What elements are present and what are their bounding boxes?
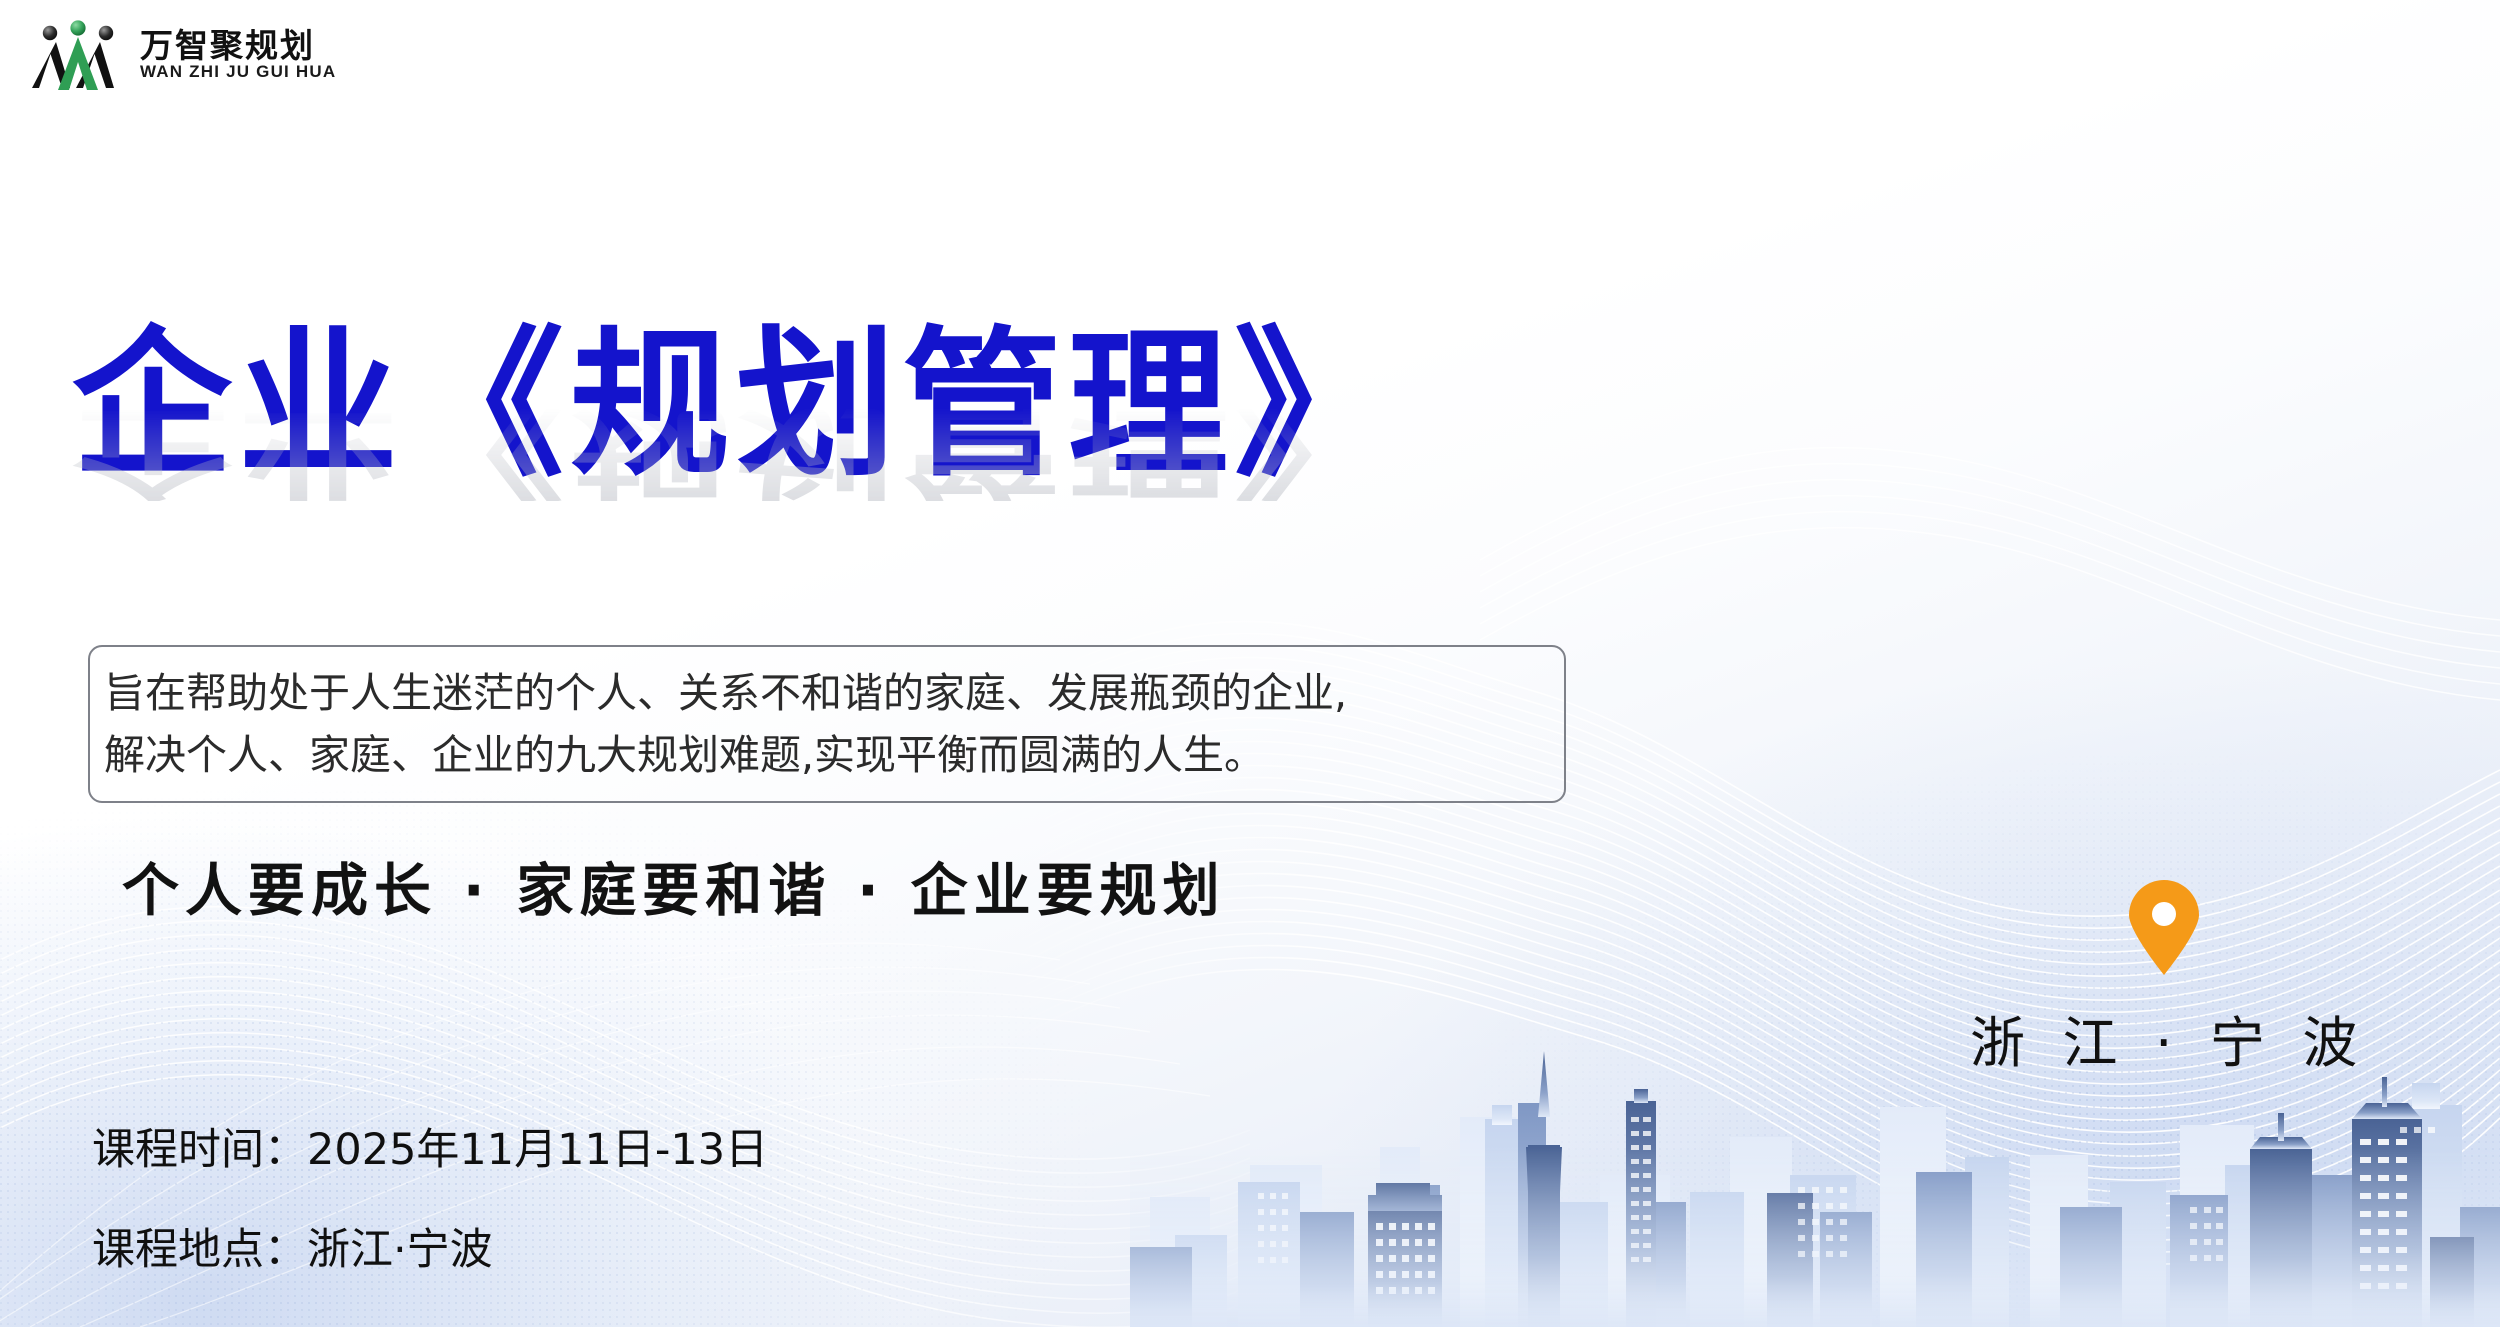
location-label: 浙 江 · 宁 波 [1960, 998, 2367, 1078]
three-people-logo-icon [30, 16, 126, 92]
brand-name-pinyin: WAN ZHI JU GUI HUA [140, 63, 336, 80]
brand-name-cn: 万智聚规划 [140, 29, 336, 62]
brand-logo[interactable]: 万智聚规划 WAN ZHI JU GUI HUA [30, 16, 336, 92]
location-badge: 浙 江 · 宁 波 [1960, 880, 2367, 1078]
poster-canvas: 万智聚规划 WAN ZHI JU GUI HUA 企业《规划管理》 企业《规划管… [0, 0, 2500, 1327]
course-time: 课程时间：2025年11月11日-13日 [92, 1115, 768, 1177]
hero-slogan: 个人要成长 · 家庭要和谐 · 企业要规划 [122, 845, 1226, 927]
hero-title-block: 企业《规划管理》 企业《规划管理》 [72, 325, 1400, 485]
course-info-block: 课程时间：2025年11月11日-13日 课程地点：浙江·宁波 [92, 1115, 768, 1277]
page-title: 企业《规划管理》 [72, 325, 1400, 485]
description-line-1: 旨在帮助处于人生迷茫的个人、关系不和谐的家庭、发展瓶颈的企业, [104, 662, 1548, 724]
description-line-2: 解决个人、家庭、企业的九大规划难题,实现平衡而圆满的人生。 [104, 724, 1548, 786]
map-pin-icon [2125, 880, 2203, 976]
course-place: 课程地点：浙江·宁波 [92, 1215, 768, 1277]
description-box: 旨在帮助处于人生迷茫的个人、关系不和谐的家庭、发展瓶颈的企业, 解决个人、家庭、… [88, 645, 1566, 803]
